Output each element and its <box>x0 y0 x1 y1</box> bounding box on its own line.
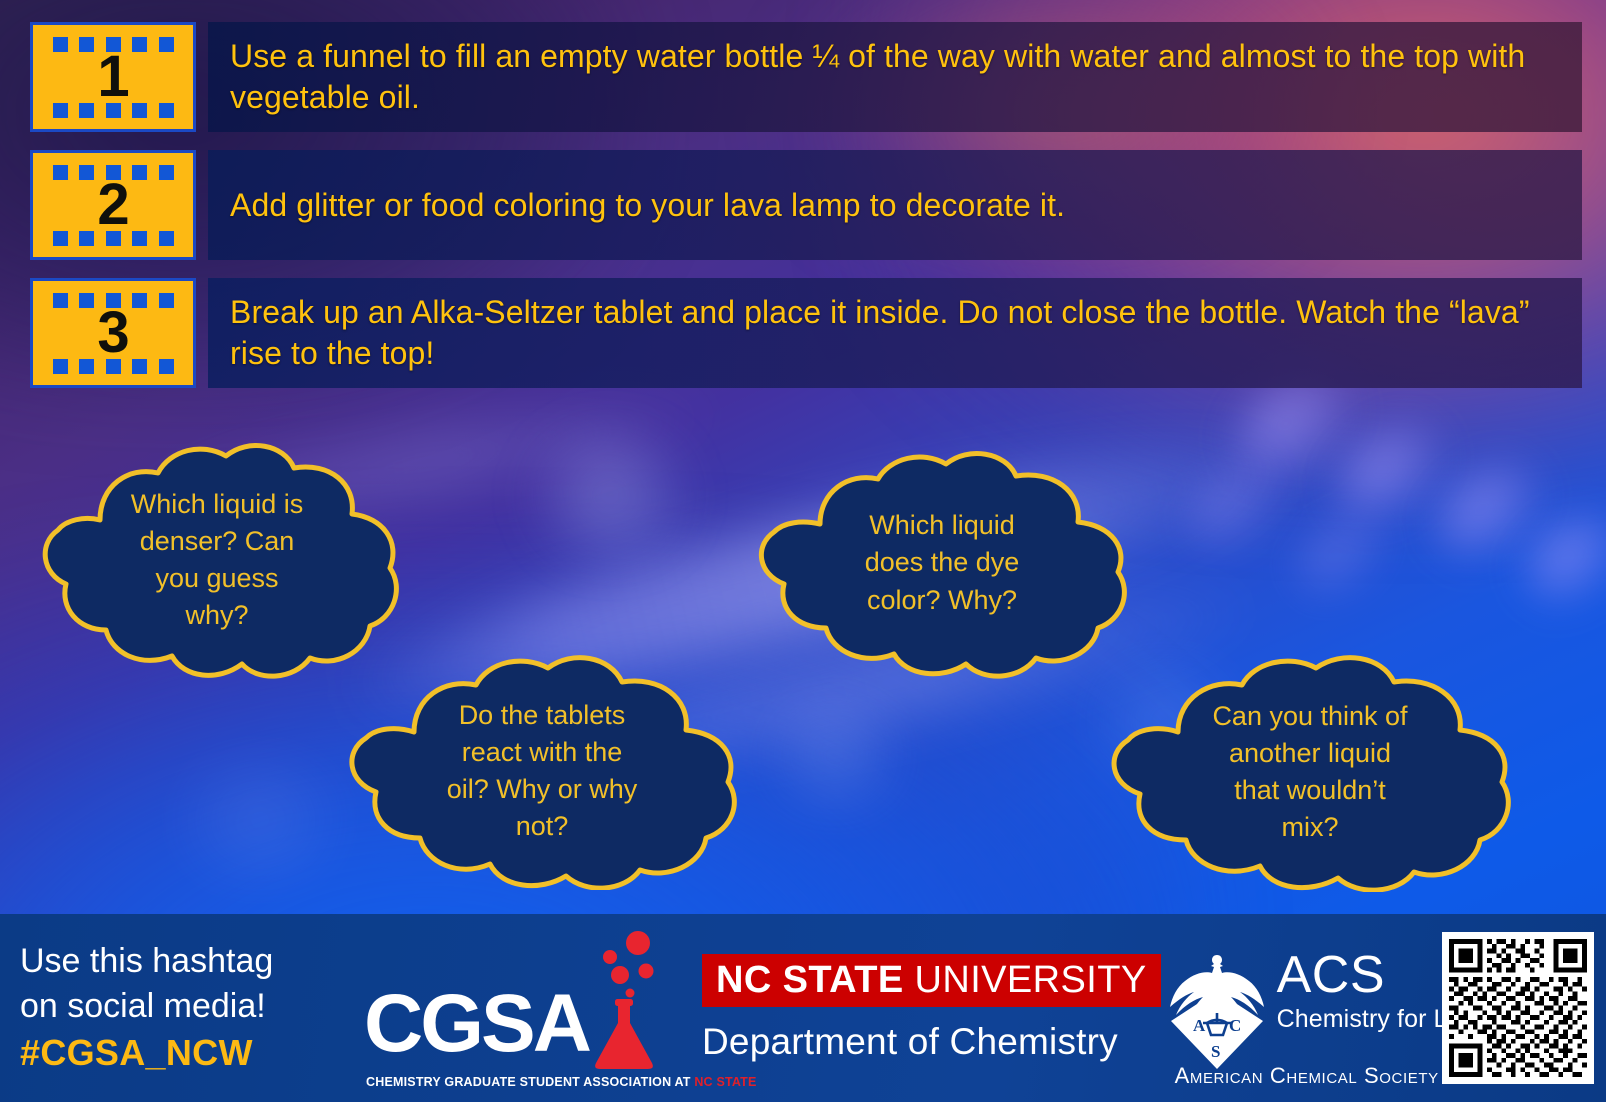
nc-state-light-text: UNIVERSITY <box>915 959 1147 1001</box>
step-instruction-text: Use a funnel to fill an empty water bott… <box>208 22 1582 132</box>
acs-letter-s: S <box>1211 1042 1220 1061</box>
acs-letter-c: C <box>1229 1016 1241 1035</box>
step-instruction-text: Add glitter or food coloring to your lav… <box>208 150 1582 260</box>
hashtag-value: #CGSA_NCW <box>20 1029 350 1077</box>
steps-list: 1 Use a funnel to fill an empty water bo… <box>0 0 1606 406</box>
hashtag-callout: Use this hashtag on social media! #CGSA_… <box>20 939 350 1076</box>
qr-code-image <box>1449 939 1587 1077</box>
step-number-badge: 2 <box>30 150 196 260</box>
cgsa-tagline-highlight: NC STATE <box>694 1075 756 1089</box>
filmstrip-perforations-top <box>33 164 193 180</box>
nc-state-logo: NC STATE UNIVERSITY Department of Chemis… <box>702 954 1161 1063</box>
question-bubble: Which liquid is denser? Can you guess wh… <box>22 436 412 684</box>
acs-eagle-diamond-icon: A C S <box>1167 947 1267 1071</box>
cgsa-tagline-prefix: CHEMISTRY GRADUATE STUDENT ASSOCIATION A… <box>366 1075 694 1089</box>
filmstrip-perforations-bottom <box>33 102 193 118</box>
cgsa-logo: CGSA CHEMISTRY GRADUATE STUDENT ASSOCIAT… <box>354 923 684 1093</box>
erlenmeyer-flask-icon <box>584 931 658 1071</box>
nc-state-wordmark-bar: NC STATE UNIVERSITY <box>702 954 1161 1007</box>
question-bubble-text: Do the tablets react with the oil? Why o… <box>330 652 754 890</box>
question-bubble: Can you think of another liquid that wou… <box>1092 652 1528 892</box>
hashtag-line-2: on social media! <box>20 984 350 1029</box>
step-row: 1 Use a funnel to fill an empty water bo… <box>30 22 1606 132</box>
step-number: 3 <box>97 304 128 362</box>
filmstrip-perforations-top <box>33 36 193 52</box>
step-number: 2 <box>97 176 128 234</box>
filmstrip-perforations-bottom <box>33 230 193 246</box>
step-row: 3 Break up an Alka-Seltzer tablet and pl… <box>30 278 1606 388</box>
filmstrip-perforations-bottom <box>33 358 193 374</box>
step-row: 2 Add glitter or food coloring to your l… <box>30 150 1606 260</box>
question-bubble-text: Can you think of another liquid that wou… <box>1092 652 1528 892</box>
poster-canvas: 1 Use a funnel to fill an empty water bo… <box>0 0 1606 1102</box>
acs-full-name: American Chemical Society <box>1175 1063 1439 1089</box>
qr-code[interactable] <box>1442 932 1594 1084</box>
cgsa-tagline: CHEMISTRY GRADUATE STUDENT ASSOCIATION A… <box>366 1075 757 1089</box>
step-number-badge: 3 <box>30 278 196 388</box>
question-bubble: Which liquid does the dye color? Why? <box>740 446 1144 680</box>
nc-state-department: Department of Chemistry <box>702 1021 1161 1063</box>
question-bubble: Do the tablets react with the oil? Why o… <box>330 652 754 890</box>
hashtag-line-1: Use this hashtag <box>20 939 350 984</box>
step-instruction-text: Break up an Alka-Seltzer tablet and plac… <box>208 278 1582 388</box>
question-bubble-text: Which liquid does the dye color? Why? <box>740 446 1144 680</box>
nc-state-bold-text: NC STATE <box>716 959 904 1001</box>
filmstrip-perforations-top <box>33 292 193 308</box>
footer-bar: Use this hashtag on social media! #CGSA_… <box>0 914 1606 1102</box>
background-soft-light <box>760 700 910 810</box>
step-number: 1 <box>97 48 128 106</box>
cgsa-wordmark: CGSA <box>364 983 589 1065</box>
acs-letter-a: A <box>1193 1016 1206 1035</box>
question-bubble-text: Which liquid is denser? Can you guess wh… <box>22 436 412 684</box>
background-soft-light <box>520 430 700 560</box>
step-number-badge: 1 <box>30 22 196 132</box>
